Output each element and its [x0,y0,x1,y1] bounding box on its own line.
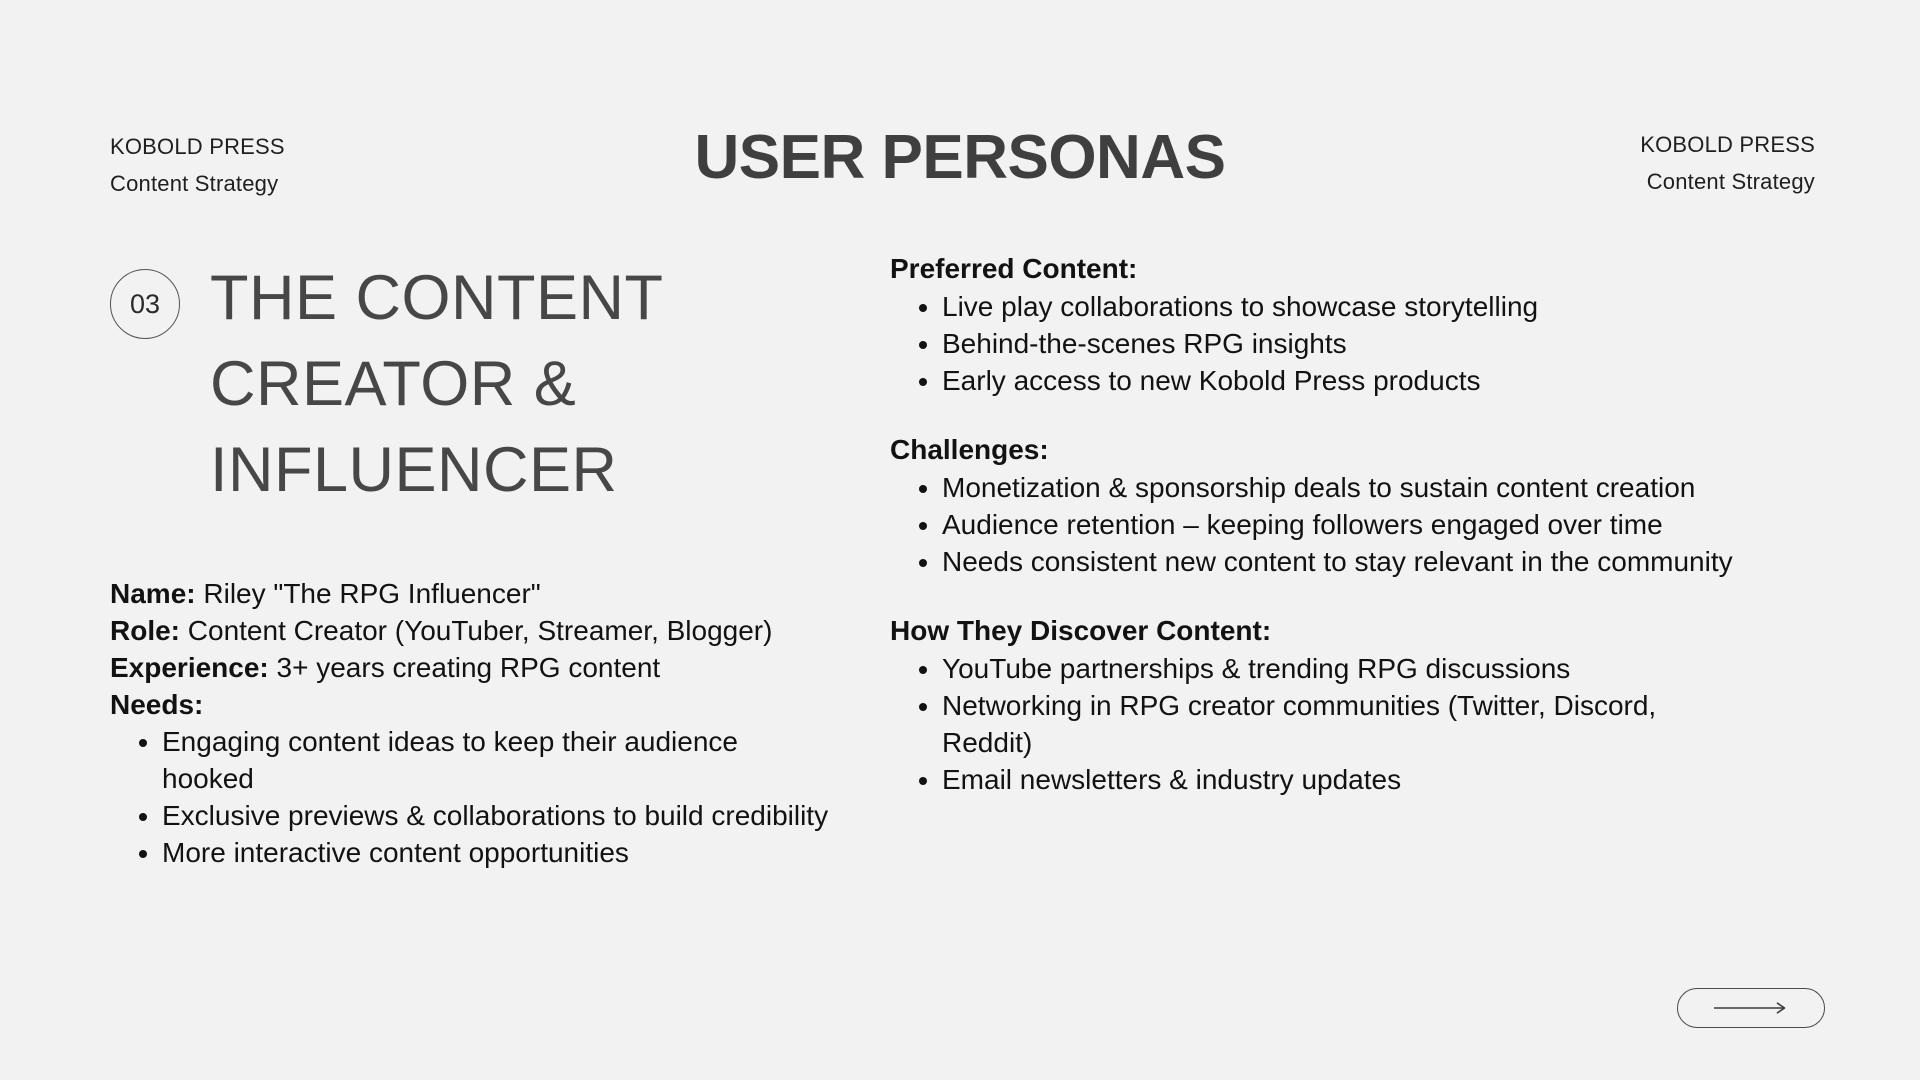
list-item: Exclusive previews & collaborations to b… [162,797,830,834]
list-item: Engaging content ideas to keep their aud… [162,723,830,797]
challenges-list: Monetization & sponsorship deals to sust… [890,469,1750,580]
arrow-right-icon [1714,1001,1788,1015]
persona-field-name-value: Riley "The RPG Influencer" [203,578,540,609]
persona-field-role-label: Role: [110,615,180,646]
persona-field-experience-label: Experience: [110,652,269,683]
preferred-content-block: Preferred Content: Live play collaborati… [890,250,1750,399]
list-item: Live play collaborations to showcase sto… [942,288,1750,325]
preferred-content-heading: Preferred Content: [890,250,1750,287]
persona-field-name: Name: Riley "The RPG Influencer" [110,575,830,612]
list-item: YouTube partnerships & trending RPG disc… [942,650,1750,687]
needs-heading: Needs: [110,686,830,723]
persona-number-badge: 03 [110,269,180,339]
persona-left-column: 03 THE CONTENT CREATOR & INFLUENCER Name… [110,255,830,871]
persona-field-role: Role: Content Creator (YouTuber, Streame… [110,612,830,649]
discover-content-list: YouTube partnerships & trending RPG disc… [890,650,1750,798]
persona-field-role-value: Content Creator (YouTuber, Streamer, Blo… [188,615,773,646]
list-item: Early access to new Kobold Press product… [942,362,1750,399]
list-item: Needs consistent new content to stay rel… [942,543,1750,580]
discover-content-block: How They Discover Content: YouTube partn… [890,612,1750,798]
challenges-heading: Challenges: [890,431,1750,468]
needs-heading-label: Needs: [110,689,203,720]
list-item: Audience retention – keeping followers e… [942,506,1750,543]
challenges-block: Challenges: Monetization & sponsorship d… [890,431,1750,580]
needs-list: Engaging content ideas to keep their aud… [110,723,830,871]
persona-details: Name: Riley "The RPG Influencer" Role: C… [110,575,830,871]
list-item: More interactive content opportunities [162,834,830,871]
preferred-content-list: Live play collaborations to showcase sto… [890,288,1750,399]
list-item: Behind-the-scenes RPG insights [942,325,1750,362]
next-slide-button[interactable] [1677,988,1825,1028]
discover-content-heading: How They Discover Content: [890,612,1750,649]
persona-right-column: Preferred Content: Live play collaborati… [890,250,1750,798]
persona-field-experience-value: 3+ years creating RPG content [277,652,661,683]
list-item: Networking in RPG creator communities (T… [942,687,1750,761]
list-item: Monetization & sponsorship deals to sust… [942,469,1750,506]
persona-title: THE CONTENT CREATOR & INFLUENCER [210,255,770,513]
persona-field-name-label: Name: [110,578,196,609]
list-item: Email newsletters & industry updates [942,761,1750,798]
persona-field-experience: Experience: 3+ years creating RPG conten… [110,649,830,686]
persona-header: 03 THE CONTENT CREATOR & INFLUENCER [110,255,830,513]
page-title: USER PERSONAS [0,122,1920,194]
